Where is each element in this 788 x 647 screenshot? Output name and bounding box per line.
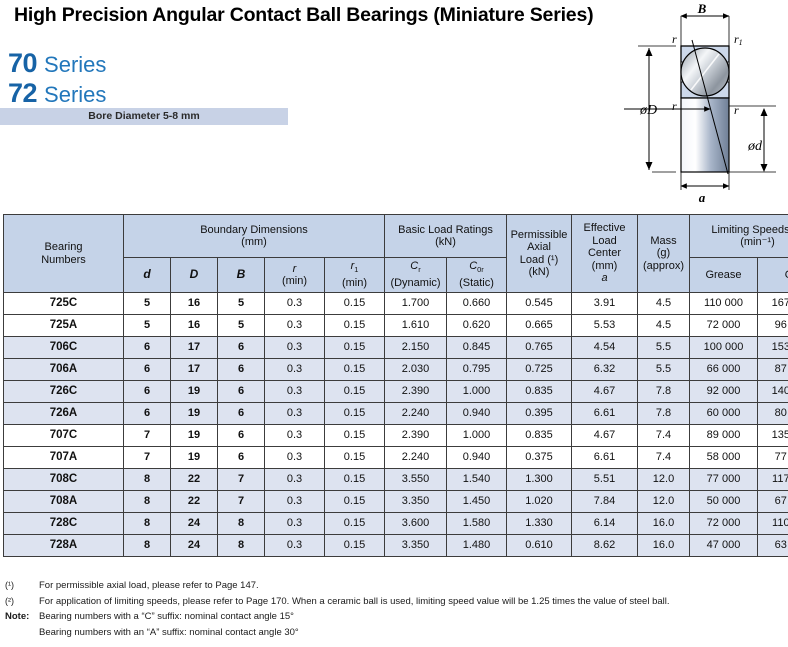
- cell-effective-load-center: 6.14: [572, 513, 638, 535]
- cell-effective-load-center: 4.67: [572, 425, 638, 447]
- cell-cr-dynamic: 3.550: [385, 469, 447, 491]
- cell-r1-min: 0.15: [325, 447, 385, 469]
- header-col-D: D: [171, 258, 218, 293]
- cell-D: 19: [171, 447, 218, 469]
- cell-effective-load-center: 4.54: [572, 337, 638, 359]
- cell-cr-dynamic: 2.030: [385, 359, 447, 381]
- cell-r1-min: 0.15: [325, 425, 385, 447]
- table-header-group-row: Bearing Numbers Boundary Dimensions (mm)…: [4, 215, 788, 258]
- cell-r-min: 0.3: [265, 293, 325, 315]
- header-permissible-axial-load: Permissible Axial Load (¹) (kN): [507, 215, 572, 293]
- label-r-mid-right: r: [734, 103, 739, 117]
- cell-cr-dynamic: 1.700: [385, 293, 447, 315]
- cell-grease-speed: 72 000: [690, 315, 758, 337]
- cell-cr-dynamic: 2.240: [385, 447, 447, 469]
- cell-d: 5: [124, 293, 171, 315]
- cell-cr-dynamic: 2.390: [385, 425, 447, 447]
- cell-c0r-static: 1.580: [447, 513, 507, 535]
- cell-r-min: 0.3: [265, 513, 325, 535]
- cell-r-min: 0.3: [265, 491, 325, 513]
- cell-effective-load-center: 4.67: [572, 381, 638, 403]
- cell-grease-speed: 77 000: [690, 469, 758, 491]
- cell-d: 6: [124, 359, 171, 381]
- cell-permissible-axial-load: 0.610: [507, 535, 572, 557]
- cell-bearing-number: 706A: [4, 359, 124, 381]
- cell-c0r-static: 0.845: [447, 337, 507, 359]
- header-col-oil: Oil: [758, 258, 788, 293]
- series-block: 70Series 72Series: [8, 48, 106, 108]
- label-r1-top-right: r1: [734, 32, 743, 47]
- cell-oil-speed: 167 000: [758, 293, 788, 315]
- bearing-specifications-table: Bearing Numbers Boundary Dimensions (mm)…: [3, 214, 788, 557]
- cell-r1-min: 0.15: [325, 403, 385, 425]
- cell-r-min: 0.3: [265, 425, 325, 447]
- cell-D: 22: [171, 491, 218, 513]
- cell-B: 8: [218, 535, 265, 557]
- page-title: High Precision Angular Contact Ball Bear…: [14, 4, 593, 27]
- table-row: 726A61960.30.152.2400.9400.3956.617.860 …: [4, 403, 788, 425]
- cell-cr-dynamic: 3.350: [385, 491, 447, 513]
- cell-permissible-axial-load: 1.020: [507, 491, 572, 513]
- cell-grease-speed: 92 000: [690, 381, 758, 403]
- cell-r1-min: 0.15: [325, 315, 385, 337]
- header-col-r1-min: r1 (min): [325, 258, 385, 293]
- cell-B: 5: [218, 315, 265, 337]
- cell-d: 6: [124, 381, 171, 403]
- cell-bearing-number: 725C: [4, 293, 124, 315]
- cell-bearing-number: 707A: [4, 447, 124, 469]
- footnote-1: (¹) For permissible axial load, please r…: [5, 578, 785, 594]
- cell-B: 6: [218, 359, 265, 381]
- cell-B: 6: [218, 403, 265, 425]
- cell-permissible-axial-load: 0.395: [507, 403, 572, 425]
- label-phi-D: øD: [639, 103, 657, 118]
- cell-r1-min: 0.15: [325, 337, 385, 359]
- cell-bearing-number: 726C: [4, 381, 124, 403]
- cell-r-min: 0.3: [265, 447, 325, 469]
- cell-B: 6: [218, 337, 265, 359]
- cell-bearing-number: 728A: [4, 535, 124, 557]
- cell-d: 7: [124, 425, 171, 447]
- cell-r-min: 0.3: [265, 315, 325, 337]
- cell-bearing-number: 706C: [4, 337, 124, 359]
- cell-r1-min: 0.15: [325, 381, 385, 403]
- label-r-mid-left: r: [672, 99, 677, 113]
- series-line-70: 70Series: [8, 48, 106, 78]
- cell-mass: 16.0: [638, 513, 690, 535]
- cell-r-min: 0.3: [265, 535, 325, 557]
- table-row: 728A82480.30.153.3501.4800.6108.6216.047…: [4, 535, 788, 557]
- footnotes-block: (¹) For permissible axial load, please r…: [5, 578, 785, 640]
- cell-cr-dynamic: 3.600: [385, 513, 447, 535]
- cell-cr-dynamic: 2.150: [385, 337, 447, 359]
- cell-grease-speed: 66 000: [690, 359, 758, 381]
- cell-mass: 16.0: [638, 535, 690, 557]
- cell-cr-dynamic: 1.610: [385, 315, 447, 337]
- cell-effective-load-center: 7.84: [572, 491, 638, 513]
- cell-c0r-static: 1.480: [447, 535, 507, 557]
- series-line-72: 72Series: [8, 78, 106, 108]
- table-row: 706A61760.30.152.0300.7950.7256.325.566 …: [4, 359, 788, 381]
- cell-r-min: 0.3: [265, 381, 325, 403]
- cell-d: 7: [124, 447, 171, 469]
- cell-permissible-axial-load: 0.835: [507, 381, 572, 403]
- series-word-70: Series: [44, 52, 106, 77]
- note-text-2: Bearing numbers with an “A” suffix: nomi…: [39, 625, 785, 641]
- cell-permissible-axial-load: 0.765: [507, 337, 572, 359]
- cell-bearing-number: 725A: [4, 315, 124, 337]
- cell-B: 7: [218, 469, 265, 491]
- header-col-d: d: [124, 258, 171, 293]
- cell-cr-dynamic: 2.240: [385, 403, 447, 425]
- cell-D: 24: [171, 535, 218, 557]
- table-row: 725C51650.30.151.7000.6600.5453.914.5110…: [4, 293, 788, 315]
- cell-grease-speed: 47 000: [690, 535, 758, 557]
- cell-cr-dynamic: 2.390: [385, 381, 447, 403]
- table-row: 726C61960.30.152.3901.0000.8354.677.892 …: [4, 381, 788, 403]
- table-row: 707C71960.30.152.3901.0000.8354.677.489 …: [4, 425, 788, 447]
- cell-r1-min: 0.15: [325, 359, 385, 381]
- cell-r1-min: 0.15: [325, 535, 385, 557]
- header-effective-load-center: Effective Load Center (mm) a: [572, 215, 638, 293]
- cell-bearing-number: 726A: [4, 403, 124, 425]
- label-r-top-left: r: [672, 32, 677, 46]
- cell-d: 8: [124, 491, 171, 513]
- cell-permissible-axial-load: 1.330: [507, 513, 572, 535]
- cell-D: 17: [171, 359, 218, 381]
- cell-D: 19: [171, 425, 218, 447]
- footnote-2-text: For application of limiting speeds, plea…: [39, 594, 785, 610]
- cell-effective-load-center: 5.53: [572, 315, 638, 337]
- cell-B: 6: [218, 447, 265, 469]
- label-phi-d: ød: [747, 139, 763, 154]
- table-row: 707A71960.30.152.2400.9400.3756.617.458 …: [4, 447, 788, 469]
- cell-d: 6: [124, 403, 171, 425]
- cell-grease-speed: 89 000: [690, 425, 758, 447]
- cell-oil-speed: 140 000: [758, 381, 788, 403]
- cell-grease-speed: 110 000: [690, 293, 758, 315]
- cell-D: 19: [171, 381, 218, 403]
- header-limiting-speeds: Limiting Speeds (²) (min⁻¹): [690, 215, 788, 258]
- header-col-B: B: [218, 258, 265, 293]
- cell-effective-load-center: 5.51: [572, 469, 638, 491]
- cell-grease-speed: 100 000: [690, 337, 758, 359]
- note-text-1: Bearing numbers with a “C” suffix: nomin…: [39, 609, 785, 625]
- cell-D: 16: [171, 315, 218, 337]
- cell-effective-load-center: 8.62: [572, 535, 638, 557]
- cell-d: 8: [124, 469, 171, 491]
- cell-oil-speed: 153 000: [758, 337, 788, 359]
- footnote-1-marker: (¹): [5, 578, 39, 594]
- cell-r1-min: 0.15: [325, 491, 385, 513]
- cell-D: 22: [171, 469, 218, 491]
- cell-B: 7: [218, 491, 265, 513]
- cell-c0r-static: 1.000: [447, 381, 507, 403]
- note-line-2: Bearing numbers with an “A” suffix: nomi…: [5, 625, 785, 641]
- cell-oil-speed: 80 000: [758, 403, 788, 425]
- series-number-72: 72: [8, 78, 37, 108]
- cell-B: 6: [218, 425, 265, 447]
- footnote-2: (²) For application of limiting speeds, …: [5, 594, 785, 610]
- cell-cr-dynamic: 3.350: [385, 535, 447, 557]
- cell-oil-speed: 67 000: [758, 491, 788, 513]
- bearing-cross-section-diagram: B r r1 r r øD: [624, 2, 788, 204]
- cell-c0r-static: 1.000: [447, 425, 507, 447]
- cell-mass: 4.5: [638, 315, 690, 337]
- cell-r-min: 0.3: [265, 337, 325, 359]
- bore-diameter-band: Bore Diameter 5-8 mm: [0, 108, 288, 125]
- header-mass: Mass (g) (approx): [638, 215, 690, 293]
- cell-r1-min: 0.15: [325, 293, 385, 315]
- cell-r1-min: 0.15: [325, 513, 385, 535]
- cell-c0r-static: 0.940: [447, 403, 507, 425]
- cell-oil-speed: 77 000: [758, 447, 788, 469]
- series-word-72: Series: [44, 82, 106, 107]
- cell-c0r-static: 0.940: [447, 447, 507, 469]
- cell-oil-speed: 96 000: [758, 315, 788, 337]
- cell-grease-speed: 58 000: [690, 447, 758, 469]
- cell-mass: 7.8: [638, 381, 690, 403]
- header-col-cr-dynamic: Cr (Dynamic): [385, 258, 447, 293]
- footnote-2-marker: (²): [5, 594, 39, 610]
- cell-d: 5: [124, 315, 171, 337]
- cell-mass: 4.5: [638, 293, 690, 315]
- table-body: 725C51650.30.151.7000.6600.5453.914.5110…: [4, 293, 788, 557]
- cell-grease-speed: 60 000: [690, 403, 758, 425]
- cell-D: 16: [171, 293, 218, 315]
- cell-bearing-number: 708A: [4, 491, 124, 513]
- cell-mass: 7.4: [638, 425, 690, 447]
- note-line-1: Note: Bearing numbers with a “C” suffix:…: [5, 609, 785, 625]
- cell-bearing-number: 707C: [4, 425, 124, 447]
- cell-effective-load-center: 6.61: [572, 447, 638, 469]
- series-number-70: 70: [8, 48, 37, 78]
- table-row: 728C82480.30.153.6001.5801.3306.1416.072…: [4, 513, 788, 535]
- cell-oil-speed: 117 000: [758, 469, 788, 491]
- cell-effective-load-center: 6.61: [572, 403, 638, 425]
- cell-grease-speed: 50 000: [690, 491, 758, 513]
- cell-oil-speed: 63 000: [758, 535, 788, 557]
- header-boundary-dimensions: Boundary Dimensions (mm): [124, 215, 385, 258]
- bore-diameter-label: Bore Diameter 5-8 mm: [0, 108, 288, 125]
- cell-oil-speed: 87 000: [758, 359, 788, 381]
- cell-grease-speed: 72 000: [690, 513, 758, 535]
- cell-c0r-static: 1.450: [447, 491, 507, 513]
- cell-r1-min: 0.15: [325, 469, 385, 491]
- cell-B: 5: [218, 293, 265, 315]
- cell-D: 17: [171, 337, 218, 359]
- table-row: 706C61760.30.152.1500.8450.7654.545.5100…: [4, 337, 788, 359]
- table-row: 708C82270.30.153.5501.5401.3005.5112.077…: [4, 469, 788, 491]
- cell-bearing-number: 708C: [4, 469, 124, 491]
- cell-r-min: 0.3: [265, 359, 325, 381]
- table-row: 725A51650.30.151.6100.6200.6655.534.572 …: [4, 315, 788, 337]
- cell-B: 6: [218, 381, 265, 403]
- cell-permissible-axial-load: 1.300: [507, 469, 572, 491]
- cell-permissible-axial-load: 0.545: [507, 293, 572, 315]
- cell-d: 8: [124, 513, 171, 535]
- cell-oil-speed: 135 000: [758, 425, 788, 447]
- header-bearing-numbers: Bearing Numbers: [4, 215, 124, 293]
- header-col-r-min: r (min): [265, 258, 325, 293]
- cell-r-min: 0.3: [265, 469, 325, 491]
- svg-text:a: a: [699, 190, 706, 204]
- cell-permissible-axial-load: 0.375: [507, 447, 572, 469]
- svg-text:B: B: [697, 2, 707, 16]
- cell-c0r-static: 0.795: [447, 359, 507, 381]
- cell-permissible-axial-load: 0.725: [507, 359, 572, 381]
- cell-mass: 7.4: [638, 447, 690, 469]
- cell-effective-load-center: 3.91: [572, 293, 638, 315]
- cell-mass: 12.0: [638, 491, 690, 513]
- cell-d: 8: [124, 535, 171, 557]
- cell-mass: 5.5: [638, 337, 690, 359]
- cell-effective-load-center: 6.32: [572, 359, 638, 381]
- cell-permissible-axial-load: 0.835: [507, 425, 572, 447]
- cell-mass: 7.8: [638, 403, 690, 425]
- header-col-grease: Grease: [690, 258, 758, 293]
- table-row: 708A82270.30.153.3501.4501.0207.8412.050…: [4, 491, 788, 513]
- note-label: Note:: [5, 609, 39, 625]
- cell-mass: 5.5: [638, 359, 690, 381]
- cell-D: 19: [171, 403, 218, 425]
- footnote-1-text: For permissible axial load, please refer…: [39, 578, 785, 594]
- cell-oil-speed: 110 000: [758, 513, 788, 535]
- cell-bearing-number: 728C: [4, 513, 124, 535]
- header-basic-load-ratings: Basic Load Ratings (kN): [385, 215, 507, 258]
- cell-c0r-static: 0.620: [447, 315, 507, 337]
- cell-r-min: 0.3: [265, 403, 325, 425]
- cell-c0r-static: 1.540: [447, 469, 507, 491]
- header-col-c0r-static: C0r (Static): [447, 258, 507, 293]
- cell-D: 24: [171, 513, 218, 535]
- cell-B: 8: [218, 513, 265, 535]
- cell-permissible-axial-load: 0.665: [507, 315, 572, 337]
- cell-mass: 12.0: [638, 469, 690, 491]
- cell-d: 6: [124, 337, 171, 359]
- cell-c0r-static: 0.660: [447, 293, 507, 315]
